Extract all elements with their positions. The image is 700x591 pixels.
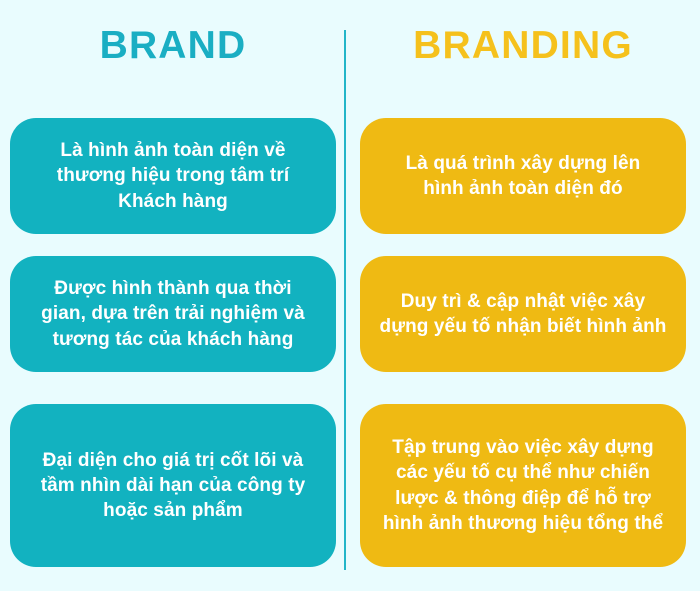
brand-card-2: Được hình thành qua thời gian, dựa trên … <box>10 256 336 372</box>
brand-card-2-text: Được hình thành qua thời gian, dựa trên … <box>41 276 305 351</box>
brand-column-heading: BRAND <box>6 26 340 65</box>
branding-card-2-text: Duy trì & cập nhật việc xây dựng yếu tố … <box>380 289 667 339</box>
brand-card-1: Là hình ảnh toàn diện về thương hiệu tro… <box>10 118 336 234</box>
branding-card-1: Là quá trình xây dựng lên hình ảnh toàn … <box>360 118 686 234</box>
brand-card-1-text: Là hình ảnh toàn diện về thương hiệu tro… <box>57 138 289 213</box>
branding-card-3: Tập trung vào việc xây dựng các yếu tố c… <box>360 404 686 567</box>
branding-card-3-text: Tập trung vào việc xây dựng các yếu tố c… <box>383 435 663 535</box>
brand-vs-branding-infographic: BRAND Là hình ảnh toàn diện về thương hi… <box>0 0 700 591</box>
branding-column: BRANDING Là quá trình xây dựng lên hình … <box>356 0 696 591</box>
brand-card-3-text: Đại diện cho giá trị cốt lõi và tầm nhìn… <box>41 448 306 523</box>
brand-column: BRAND Là hình ảnh toàn diện về thương hi… <box>6 0 346 591</box>
brand-card-3: Đại diện cho giá trị cốt lõi và tầm nhìn… <box>10 404 336 567</box>
branding-column-heading: BRANDING <box>356 26 690 65</box>
branding-card-2: Duy trì & cập nhật việc xây dựng yếu tố … <box>360 256 686 372</box>
branding-card-1-text: Là quá trình xây dựng lên hình ảnh toàn … <box>406 151 641 201</box>
